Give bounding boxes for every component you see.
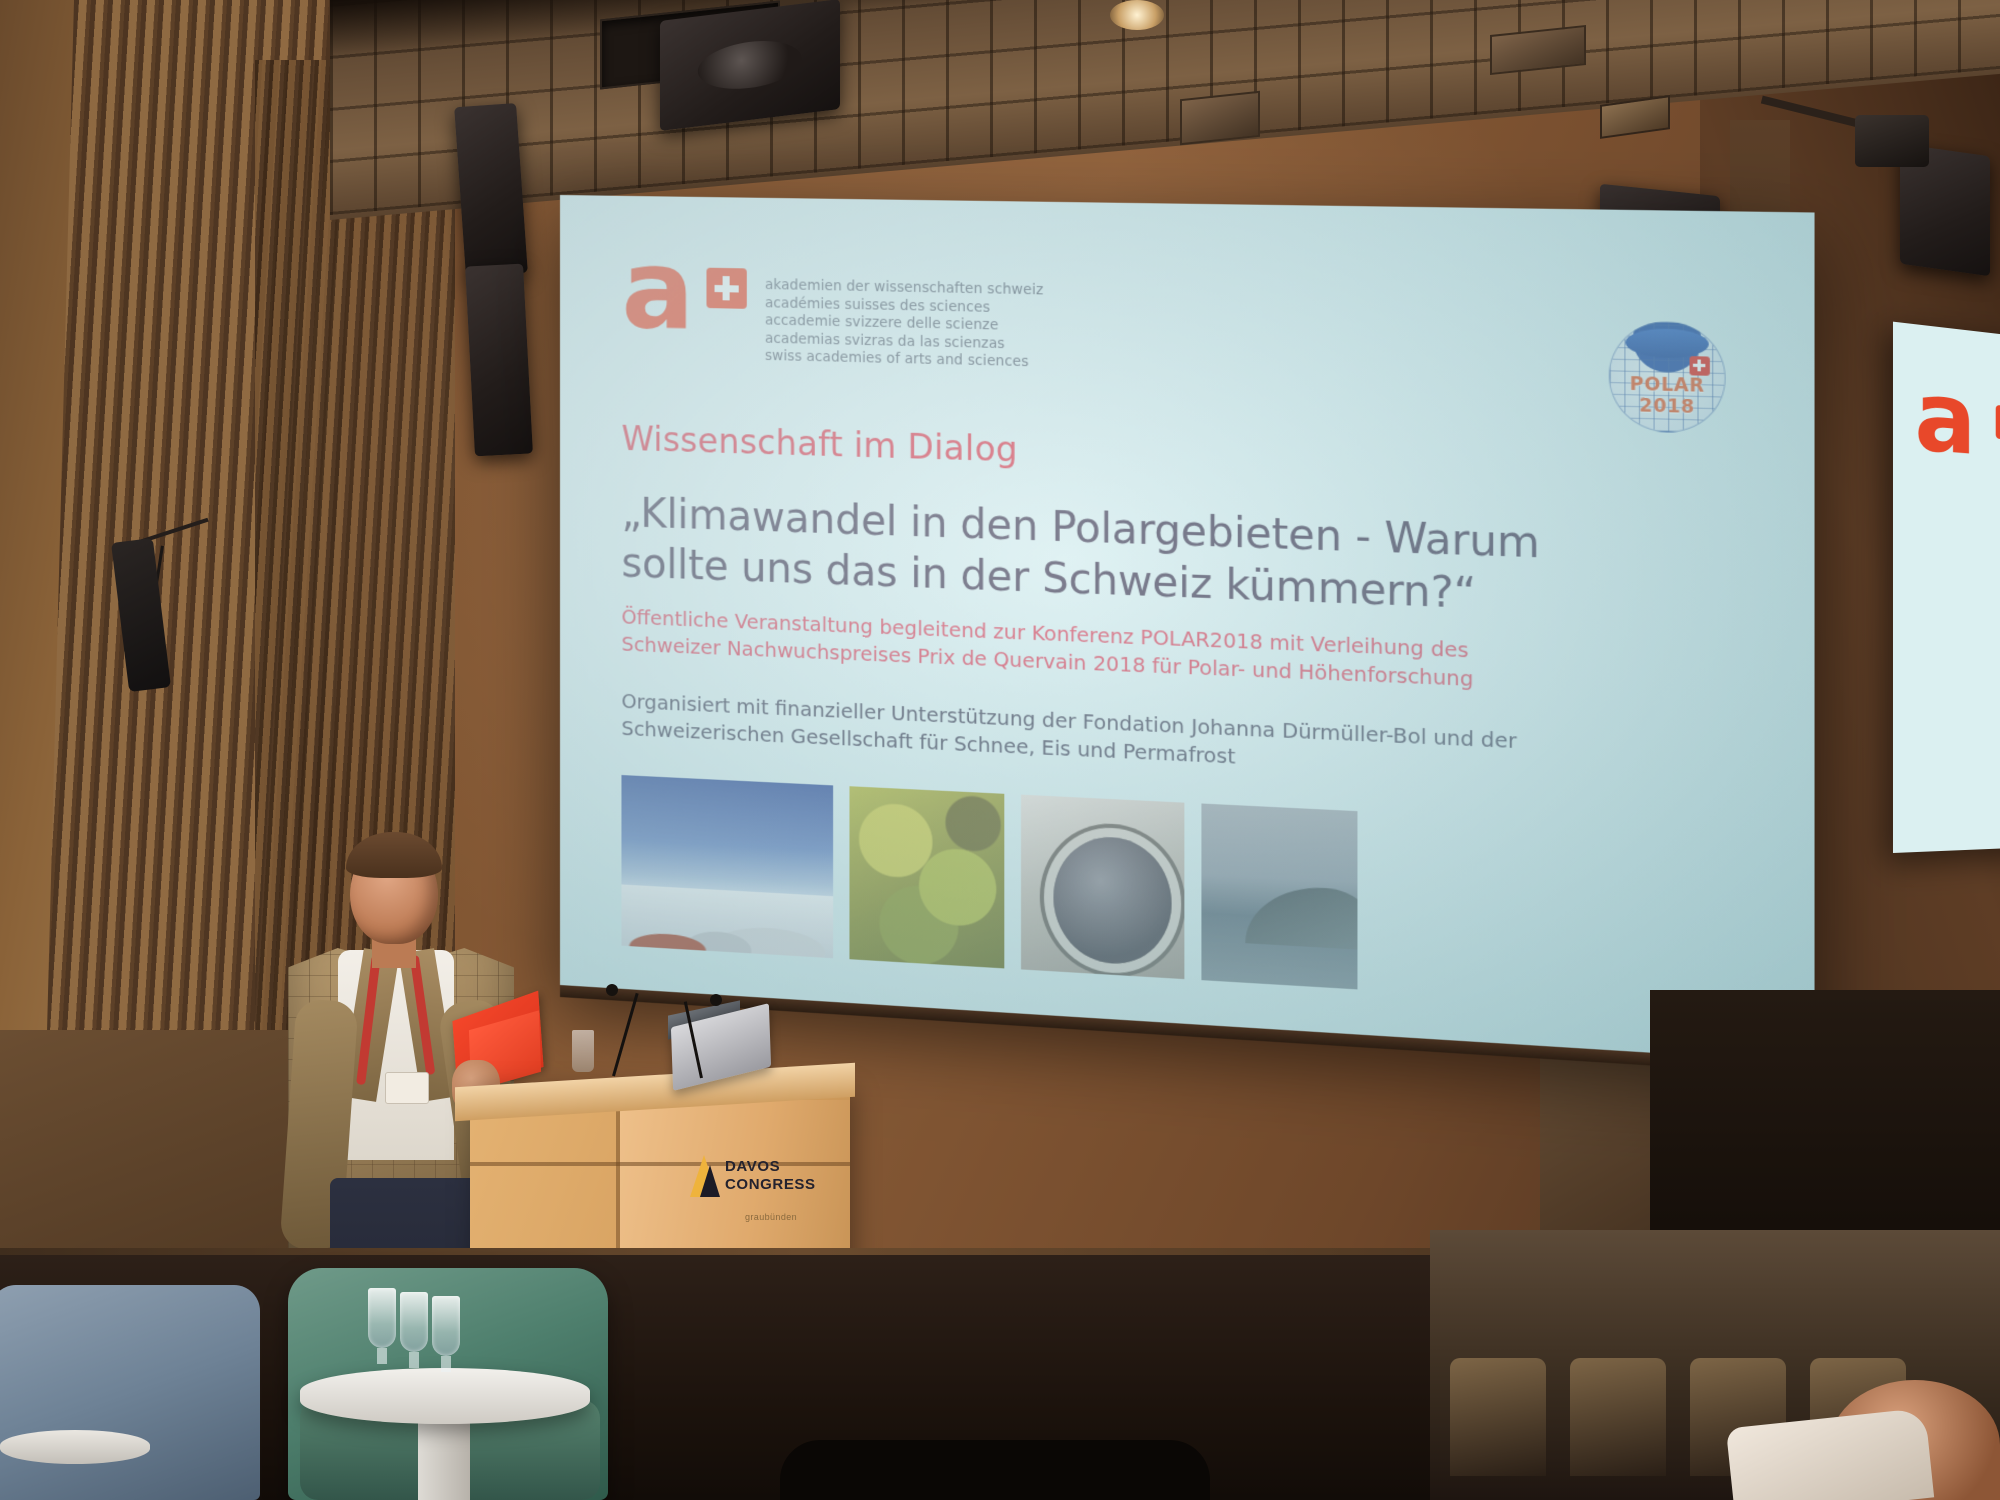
lecture-hall-photo: a akademien der wissenschaften schweiz a… xyxy=(0,0,2000,1500)
projection-screen: a akademien der wissenschaften schweiz a… xyxy=(560,195,1815,1063)
presenter-badge xyxy=(385,1072,429,1104)
logo-language-lines: akademien der wissenschaften schweiz aca… xyxy=(765,277,1044,373)
venue-name-line-2: CONGRESS xyxy=(725,1176,816,1194)
secondary-logo-letter-a: a xyxy=(1914,377,1976,460)
water-glass-lectern xyxy=(572,1030,594,1072)
polar-station-photo xyxy=(621,775,833,958)
wall-speaker-array-2 xyxy=(465,264,533,457)
wall-speaker-array-1 xyxy=(454,103,528,277)
ceiling-light-1 xyxy=(1110,0,1164,30)
wine-glass xyxy=(368,1288,396,1348)
slide-photo-strip xyxy=(621,775,1743,1012)
mountain-triangle-icon xyxy=(690,1155,718,1197)
microphone-head-1 xyxy=(606,984,618,996)
academies-logo: a akademien der wissenschaften schweiz a… xyxy=(621,248,1743,389)
side-table xyxy=(300,1368,590,1424)
slide-eyebrow: Wissenschaft im Dialog xyxy=(621,418,1743,491)
venue-logo-text: DAVOS CONGRESS xyxy=(725,1158,816,1195)
projected-slide: a akademien der wissenschaften schweiz a… xyxy=(560,195,1815,1063)
audience-chair xyxy=(1450,1358,1546,1476)
microscopy-photo xyxy=(849,786,1004,968)
foreground-shadow xyxy=(780,1440,1210,1500)
venue-logo: DAVOS CONGRESS xyxy=(690,1145,805,1207)
audience-chair xyxy=(1570,1358,1666,1476)
ceiling-speaker-1 xyxy=(660,0,840,131)
speaker-cone-icon xyxy=(698,35,802,94)
wine-glass xyxy=(400,1292,428,1352)
venue-subtitle: graubünden xyxy=(745,1212,797,1222)
ceiling-vent-1 xyxy=(1180,91,1260,145)
logo-letter-a: a xyxy=(621,248,692,334)
side-table-left xyxy=(0,1430,150,1464)
venue-name-line-1: DAVOS xyxy=(725,1158,816,1176)
slide-organizer-note: Organisiert mit finanzieller Unterstützu… xyxy=(621,688,1743,796)
fjord-photo xyxy=(1201,803,1357,989)
ice-core-drill-photo xyxy=(1021,794,1184,978)
wine-glass xyxy=(432,1296,460,1356)
ceiling-camera xyxy=(1855,115,1929,167)
swiss-cross-icon xyxy=(706,268,746,309)
blue-armchair xyxy=(0,1285,260,1500)
microphone-head-2 xyxy=(710,994,722,1006)
secondary-projection-screen: a xyxy=(1893,322,2000,853)
secondary-swiss-cross-icon xyxy=(1996,405,2000,441)
